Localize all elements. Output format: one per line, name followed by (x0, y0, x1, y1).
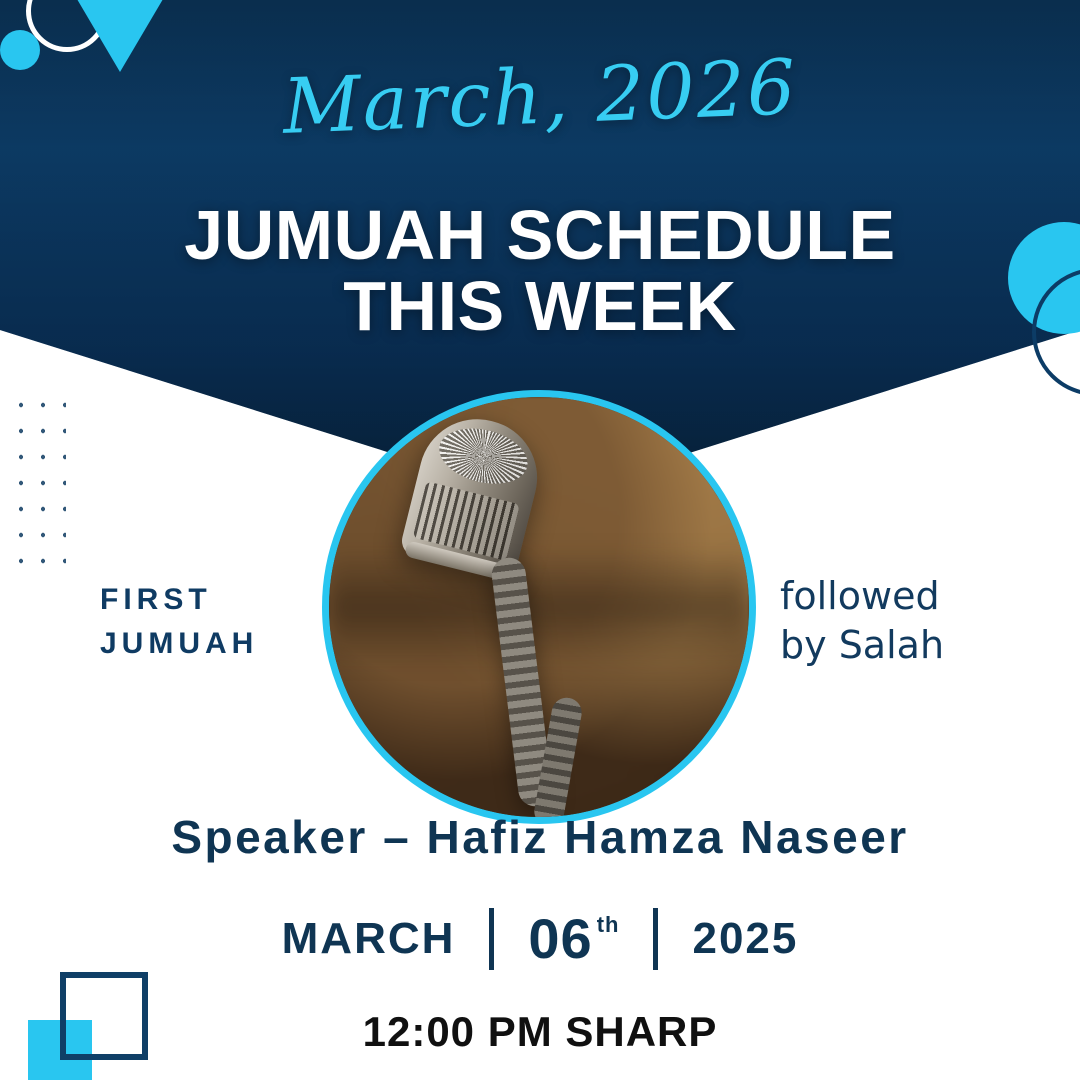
date-month: MARCH (282, 914, 456, 964)
page-title-line-2: THIS WEEK (0, 271, 1080, 342)
microphone-photo-blur-band (329, 547, 749, 667)
followed-by-salah-line-1: followed (780, 572, 1030, 621)
first-jumuah-label: FIRST JUMUAH (100, 578, 330, 665)
date-divider-right (653, 908, 658, 970)
date-year: 2025 (692, 914, 798, 964)
first-jumuah-label-line-2: JUMUAH (100, 622, 330, 666)
microphone-photo-circle (322, 390, 756, 824)
page-title: JUMUAH SCHEDULE THIS WEEK (0, 200, 1080, 343)
date-day-group: 06 th (528, 906, 619, 971)
time-line: 12:00 PM SHARP (0, 1008, 1080, 1056)
first-jumuah-label-line-1: FIRST (100, 578, 330, 622)
top-left-triangle-shape (74, 0, 166, 72)
followed-by-salah-label: followed by Salah (780, 572, 1030, 671)
followed-by-salah-line-2: by Salah (780, 621, 1030, 670)
page-title-line-1: JUMUAH SCHEDULE (184, 196, 895, 274)
date-day-suffix: th (597, 912, 620, 938)
poster-canvas: March, 2026 JUMUAH SCHEDULE THIS WEEK FI… (0, 0, 1080, 1080)
date-day-number: 06 (528, 906, 592, 971)
date-row: MARCH 06 th 2025 (0, 906, 1080, 971)
left-dot-grid-shape (10, 392, 66, 576)
speaker-line: Speaker – Hafiz Hamza Naseer (0, 810, 1080, 864)
date-divider-left (489, 908, 494, 970)
